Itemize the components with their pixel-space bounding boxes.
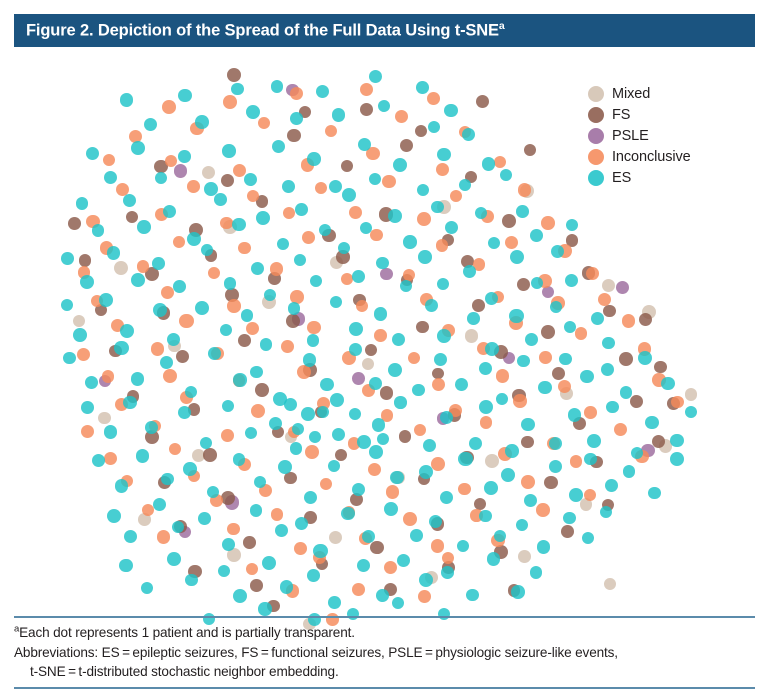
legend-item-label: Mixed (612, 86, 650, 102)
scatter-point (195, 301, 209, 315)
scatter-point (370, 229, 383, 242)
scatter-point (227, 299, 240, 312)
scatter-point (233, 373, 246, 386)
scatter-point (119, 559, 132, 572)
scatter-point (310, 275, 322, 287)
scatter-point (214, 193, 227, 206)
scatter-point (584, 453, 596, 465)
scatter-point (465, 329, 478, 342)
scatter-point (388, 209, 402, 223)
scatter-point (102, 370, 115, 383)
scatter-point (630, 395, 643, 408)
scatter-point (222, 400, 234, 412)
scatter-point (176, 350, 189, 363)
scatter-point (227, 68, 241, 82)
scatter-point (444, 104, 457, 117)
scatter-point (245, 427, 257, 439)
scatter-point (271, 508, 284, 521)
scatter-point (163, 369, 177, 383)
scatter-point (412, 384, 424, 396)
scatter-point (600, 506, 612, 518)
scatter-point (169, 443, 181, 455)
scatter-point (511, 585, 524, 598)
scatter-point (603, 305, 616, 318)
scatter-point (378, 100, 390, 112)
scatter-point (601, 363, 615, 377)
scatter-point (623, 465, 635, 477)
scatter-point (76, 197, 89, 210)
scatter-point (258, 117, 270, 129)
scatter-point (218, 565, 230, 577)
scatter-point (200, 437, 212, 449)
scatter-point (294, 254, 306, 266)
scatter-point (124, 530, 137, 543)
scatter-point (316, 85, 329, 98)
scatter-point (587, 434, 601, 448)
scatter-point (685, 388, 698, 401)
scatter-point (423, 439, 436, 452)
scatter-point (604, 578, 616, 590)
scatter-point (566, 219, 578, 231)
scatter-point (325, 125, 337, 137)
scatter-point (251, 262, 264, 275)
scatter-point (144, 118, 157, 131)
legend-swatch-icon (588, 149, 604, 165)
scatter-point (377, 433, 389, 445)
scatter-point (580, 370, 593, 383)
scatter-point (137, 220, 151, 234)
scatter-point (320, 378, 334, 392)
scatter-point (403, 235, 416, 248)
scatter-point (305, 445, 319, 459)
scatter-point (178, 150, 190, 162)
scatter-point (466, 589, 479, 602)
scatter-point (301, 407, 315, 421)
scatter-point (570, 455, 583, 468)
scatter-point (496, 369, 509, 382)
scatter-point (256, 211, 270, 225)
scatter-point (414, 424, 426, 436)
scatter-point (349, 343, 362, 356)
scatter-point (275, 524, 288, 537)
scatter-point (341, 273, 353, 285)
scatter-point (80, 275, 94, 289)
scatter-point (332, 108, 346, 122)
scatter-point (549, 460, 562, 473)
scatter-point (178, 89, 192, 103)
scatter-point (79, 254, 91, 266)
scatter-point (103, 154, 115, 166)
scatter-point (330, 296, 342, 308)
scatter-point (537, 540, 551, 554)
scatter-point (155, 172, 167, 184)
scatter-point (376, 257, 389, 270)
scatter-point (115, 479, 129, 493)
scatter-point (246, 563, 258, 575)
scatter-point (328, 596, 341, 609)
scatter-point (569, 488, 583, 502)
figure-title: Figure 2. Depiction of the Spread of the… (26, 21, 505, 40)
scatter-point (418, 590, 431, 603)
scatter-point (518, 550, 531, 563)
scatter-point (440, 491, 453, 504)
scatter-point (250, 579, 263, 592)
scatter-point (394, 396, 406, 408)
scatter-point (584, 489, 596, 501)
legend-item-inconclusive[interactable]: Inconclusive (588, 146, 758, 167)
scatter-point (437, 278, 450, 291)
scatter-point (233, 589, 247, 603)
scatter-point (222, 144, 235, 157)
scatter-point (549, 437, 562, 450)
scatter-point (221, 491, 235, 505)
scatter-point (295, 203, 308, 216)
scatter-point (485, 292, 499, 306)
scatter-point (178, 406, 191, 419)
scatter-point (400, 280, 412, 292)
scatter-point (104, 452, 117, 465)
scatter-point (479, 362, 493, 376)
scatter-point (107, 509, 121, 523)
scatter-point (370, 541, 383, 554)
scatter-point (123, 194, 136, 207)
scatter-point (295, 517, 308, 530)
scatter-point (472, 299, 485, 312)
scatter-point (141, 582, 153, 594)
scatter-point (639, 313, 652, 326)
scatter-point (338, 242, 350, 254)
scatter-point (541, 216, 555, 230)
legend-item-label: FS (612, 107, 630, 123)
scatter-point (251, 404, 265, 418)
scatter-point (283, 207, 295, 219)
scatter-point (352, 483, 366, 497)
scatter-point (494, 156, 506, 168)
scatter-point (432, 378, 445, 391)
scatter-point (427, 92, 440, 105)
scatter-point (342, 188, 356, 202)
scatter-point (513, 394, 526, 407)
figure-title-footnote-marker: a (499, 20, 505, 32)
scatter-point (459, 179, 471, 191)
scatter-point (431, 457, 445, 471)
scatter-point (582, 532, 595, 545)
scatter-point (521, 436, 534, 449)
scatter-point (238, 242, 250, 254)
scatter-point (360, 222, 372, 234)
scatter-point (467, 312, 480, 325)
scatter-point (329, 180, 342, 193)
scatter-point (505, 444, 518, 457)
scatter-point (517, 278, 530, 291)
scatter-point (335, 449, 348, 462)
scatter-point (152, 257, 165, 270)
scatter-point (552, 367, 565, 380)
chart-legend: MixedFSPSLEInconclusiveES (588, 83, 758, 188)
scatter-point (530, 229, 543, 242)
scatter-point (290, 442, 303, 455)
scatter-point (502, 214, 516, 228)
scatter-point (142, 504, 154, 516)
scatter-point (417, 212, 431, 226)
scatter-point (221, 429, 234, 442)
scatter-point (505, 236, 518, 249)
scatter-point (510, 250, 524, 264)
scatter-point (81, 401, 94, 414)
scatter-point (509, 309, 523, 323)
scatter-point (431, 201, 443, 213)
scatter-point (246, 105, 260, 119)
scatter-point (292, 423, 304, 435)
scatter-point (332, 428, 345, 441)
scatter-point (243, 536, 255, 548)
scatter-point (221, 174, 234, 187)
scatter-point (542, 286, 554, 298)
scatter-point (463, 265, 476, 278)
scatter-point (605, 479, 618, 492)
scatter-point (614, 423, 627, 436)
scatter-point (232, 218, 245, 231)
legend-swatch-icon (588, 170, 604, 186)
scatter-point (671, 396, 684, 409)
scatter-point (357, 559, 370, 572)
scatter-point (386, 485, 400, 499)
scatter-point (307, 321, 320, 334)
scatter-point (61, 299, 73, 311)
scatter-point (303, 353, 317, 367)
scatter-point (524, 144, 536, 156)
scatter-point (550, 301, 562, 313)
scatter-point (258, 602, 271, 615)
scatter-point (167, 552, 181, 566)
scatter-point (541, 325, 555, 339)
scatter-point (395, 110, 408, 123)
scatter-point (670, 434, 684, 448)
figure-footnotes: aEach dot represents 1 patient and is pa… (14, 616, 755, 689)
scatter-point (419, 465, 433, 479)
scatter-point (369, 173, 381, 185)
scatter-point (352, 583, 365, 596)
scatter-point (99, 293, 113, 307)
scatter-point (362, 358, 374, 370)
scatter-point (536, 503, 550, 517)
scatter-point (494, 530, 506, 542)
scatter-point (294, 542, 307, 555)
scatter-point (462, 128, 475, 141)
scatter-point (238, 334, 251, 347)
scatter-point (286, 314, 300, 328)
scatter-point (591, 312, 604, 325)
scatter-point (224, 277, 236, 289)
scatter-point (104, 425, 118, 439)
scatter-point (185, 574, 197, 586)
footnote-line-3: t-SNE = t-distributed stochastic neighbo… (14, 662, 755, 682)
scatter-point (349, 322, 363, 336)
scatter-point (195, 115, 209, 129)
footnote-text-1: Each dot represents 1 patient and is par… (19, 625, 355, 640)
scatter-point (317, 406, 329, 418)
scatter-point (329, 531, 342, 544)
scatter-point (307, 334, 320, 347)
scatter-point (524, 494, 537, 507)
scatter-point (516, 519, 529, 532)
scatter-point (161, 286, 174, 299)
scatter-point (131, 273, 145, 287)
scatter-point (416, 321, 429, 334)
scatter-point (488, 237, 500, 249)
scatter-point (419, 573, 433, 587)
scatter-point (654, 361, 666, 373)
scatter-point (417, 184, 430, 197)
scatter-point (399, 430, 412, 443)
scatter-point (586, 267, 599, 280)
scatter-point (670, 452, 684, 466)
scatter-point (341, 507, 354, 520)
scatter-point (458, 452, 472, 466)
figure-title-text: Figure 2. Depiction of the Spread of the… (26, 21, 499, 39)
scatter-point (107, 246, 120, 259)
scatter-point (313, 544, 327, 558)
scatter-point (397, 554, 410, 567)
scatter-point (290, 112, 303, 125)
scatter-point (315, 182, 327, 194)
scatter-point (390, 471, 403, 484)
legend-item-label: Inconclusive (612, 149, 691, 165)
scatter-point (487, 552, 500, 565)
scatter-point (565, 274, 578, 287)
scatter-point (203, 448, 217, 462)
scatter-point (436, 239, 448, 251)
scatter-point (517, 355, 529, 367)
scatter-point (307, 569, 320, 582)
scatter-point (455, 378, 468, 391)
scatter-point (307, 152, 320, 165)
scatter-point (602, 279, 615, 292)
scatter-point (369, 445, 383, 459)
legend-item-psle[interactable]: PSLE (588, 125, 758, 146)
scatter-point (173, 280, 186, 293)
legend-item-label: PSLE (612, 128, 649, 144)
scatter-point (357, 435, 371, 449)
scatter-point (479, 510, 491, 522)
scatter-point (304, 491, 317, 504)
scatter-point (484, 481, 498, 495)
scatter-point (500, 169, 512, 181)
scatter-point (415, 125, 427, 137)
scatter-point (436, 163, 449, 176)
scatter-point (380, 386, 394, 400)
scatter-point (416, 81, 429, 94)
scatter-point (160, 356, 174, 370)
legend-item-es[interactable]: ES (588, 167, 758, 188)
scatter-point (220, 324, 233, 337)
scatter-point (173, 236, 185, 248)
scatter-point (123, 396, 136, 409)
scatter-point (250, 366, 263, 379)
scatter-point (445, 221, 458, 234)
scatter-point (457, 540, 469, 552)
scatter-point (374, 329, 387, 342)
scatter-point (290, 87, 303, 100)
legend-item-fs[interactable]: FS (588, 104, 758, 125)
scatter-point (485, 454, 499, 468)
scatter-point (518, 183, 531, 196)
scatter-point (162, 100, 176, 114)
scatter-point (479, 400, 493, 414)
scatter-point (392, 333, 405, 346)
scatter-point (126, 211, 138, 223)
scatter-point (73, 328, 87, 342)
scatter-point (282, 180, 295, 193)
scatter-point (440, 411, 453, 424)
scatter-point (622, 314, 635, 327)
scatter-point (431, 539, 445, 553)
scatter-point (437, 329, 451, 343)
scatter-point (530, 566, 542, 578)
scatter-point (551, 245, 564, 258)
scatter-point (61, 252, 74, 265)
scatter-point (63, 352, 76, 365)
scatter-point (179, 314, 193, 328)
scatter-point (469, 437, 482, 450)
tsne-scatter-plot: MixedFSPSLEInconclusiveES (0, 48, 768, 613)
footnote-rule-bottom (14, 687, 755, 689)
scatter-point (538, 381, 552, 395)
scatter-point (384, 561, 397, 574)
scatter-point (544, 476, 557, 489)
scatter-point (374, 307, 387, 320)
scatter-point (476, 95, 489, 108)
scatter-point (220, 217, 232, 229)
scatter-point (616, 281, 629, 294)
scatter-point (521, 475, 535, 489)
scatter-point (360, 83, 373, 96)
scatter-point (174, 164, 188, 178)
scatter-point (388, 363, 402, 377)
footnote-line-2: Abbreviations: ES = epileptic seizures, … (14, 643, 755, 663)
scatter-point (450, 190, 462, 202)
scatter-point (645, 416, 659, 430)
scatter-point (73, 315, 85, 327)
scatter-point (429, 515, 442, 528)
scatter-point (284, 398, 297, 411)
scatter-point (330, 393, 344, 407)
scatter-point (568, 408, 581, 421)
scatter-point (365, 344, 377, 356)
scatter-point (104, 171, 117, 184)
scatter-point (250, 504, 263, 517)
legend-item-mixed[interactable]: Mixed (588, 83, 758, 104)
scatter-point (136, 449, 149, 462)
legend-swatch-icon (588, 128, 604, 144)
scatter-point (137, 260, 150, 273)
scatter-point (393, 158, 407, 172)
scatter-point (437, 148, 450, 161)
scatter-point (302, 231, 315, 244)
scatter-point (356, 300, 368, 312)
scatter-point (157, 530, 171, 544)
scatter-point (352, 270, 365, 283)
scatter-point (81, 425, 94, 438)
scatter-point (358, 138, 371, 151)
scatter-point (161, 473, 173, 485)
scatter-point (369, 70, 383, 84)
scatter-point (328, 460, 340, 472)
footnote-line-1: aEach dot represents 1 patient and is pa… (14, 623, 755, 643)
scatter-point (525, 333, 538, 346)
scatter-point (380, 268, 393, 281)
scatter-point (606, 401, 618, 413)
